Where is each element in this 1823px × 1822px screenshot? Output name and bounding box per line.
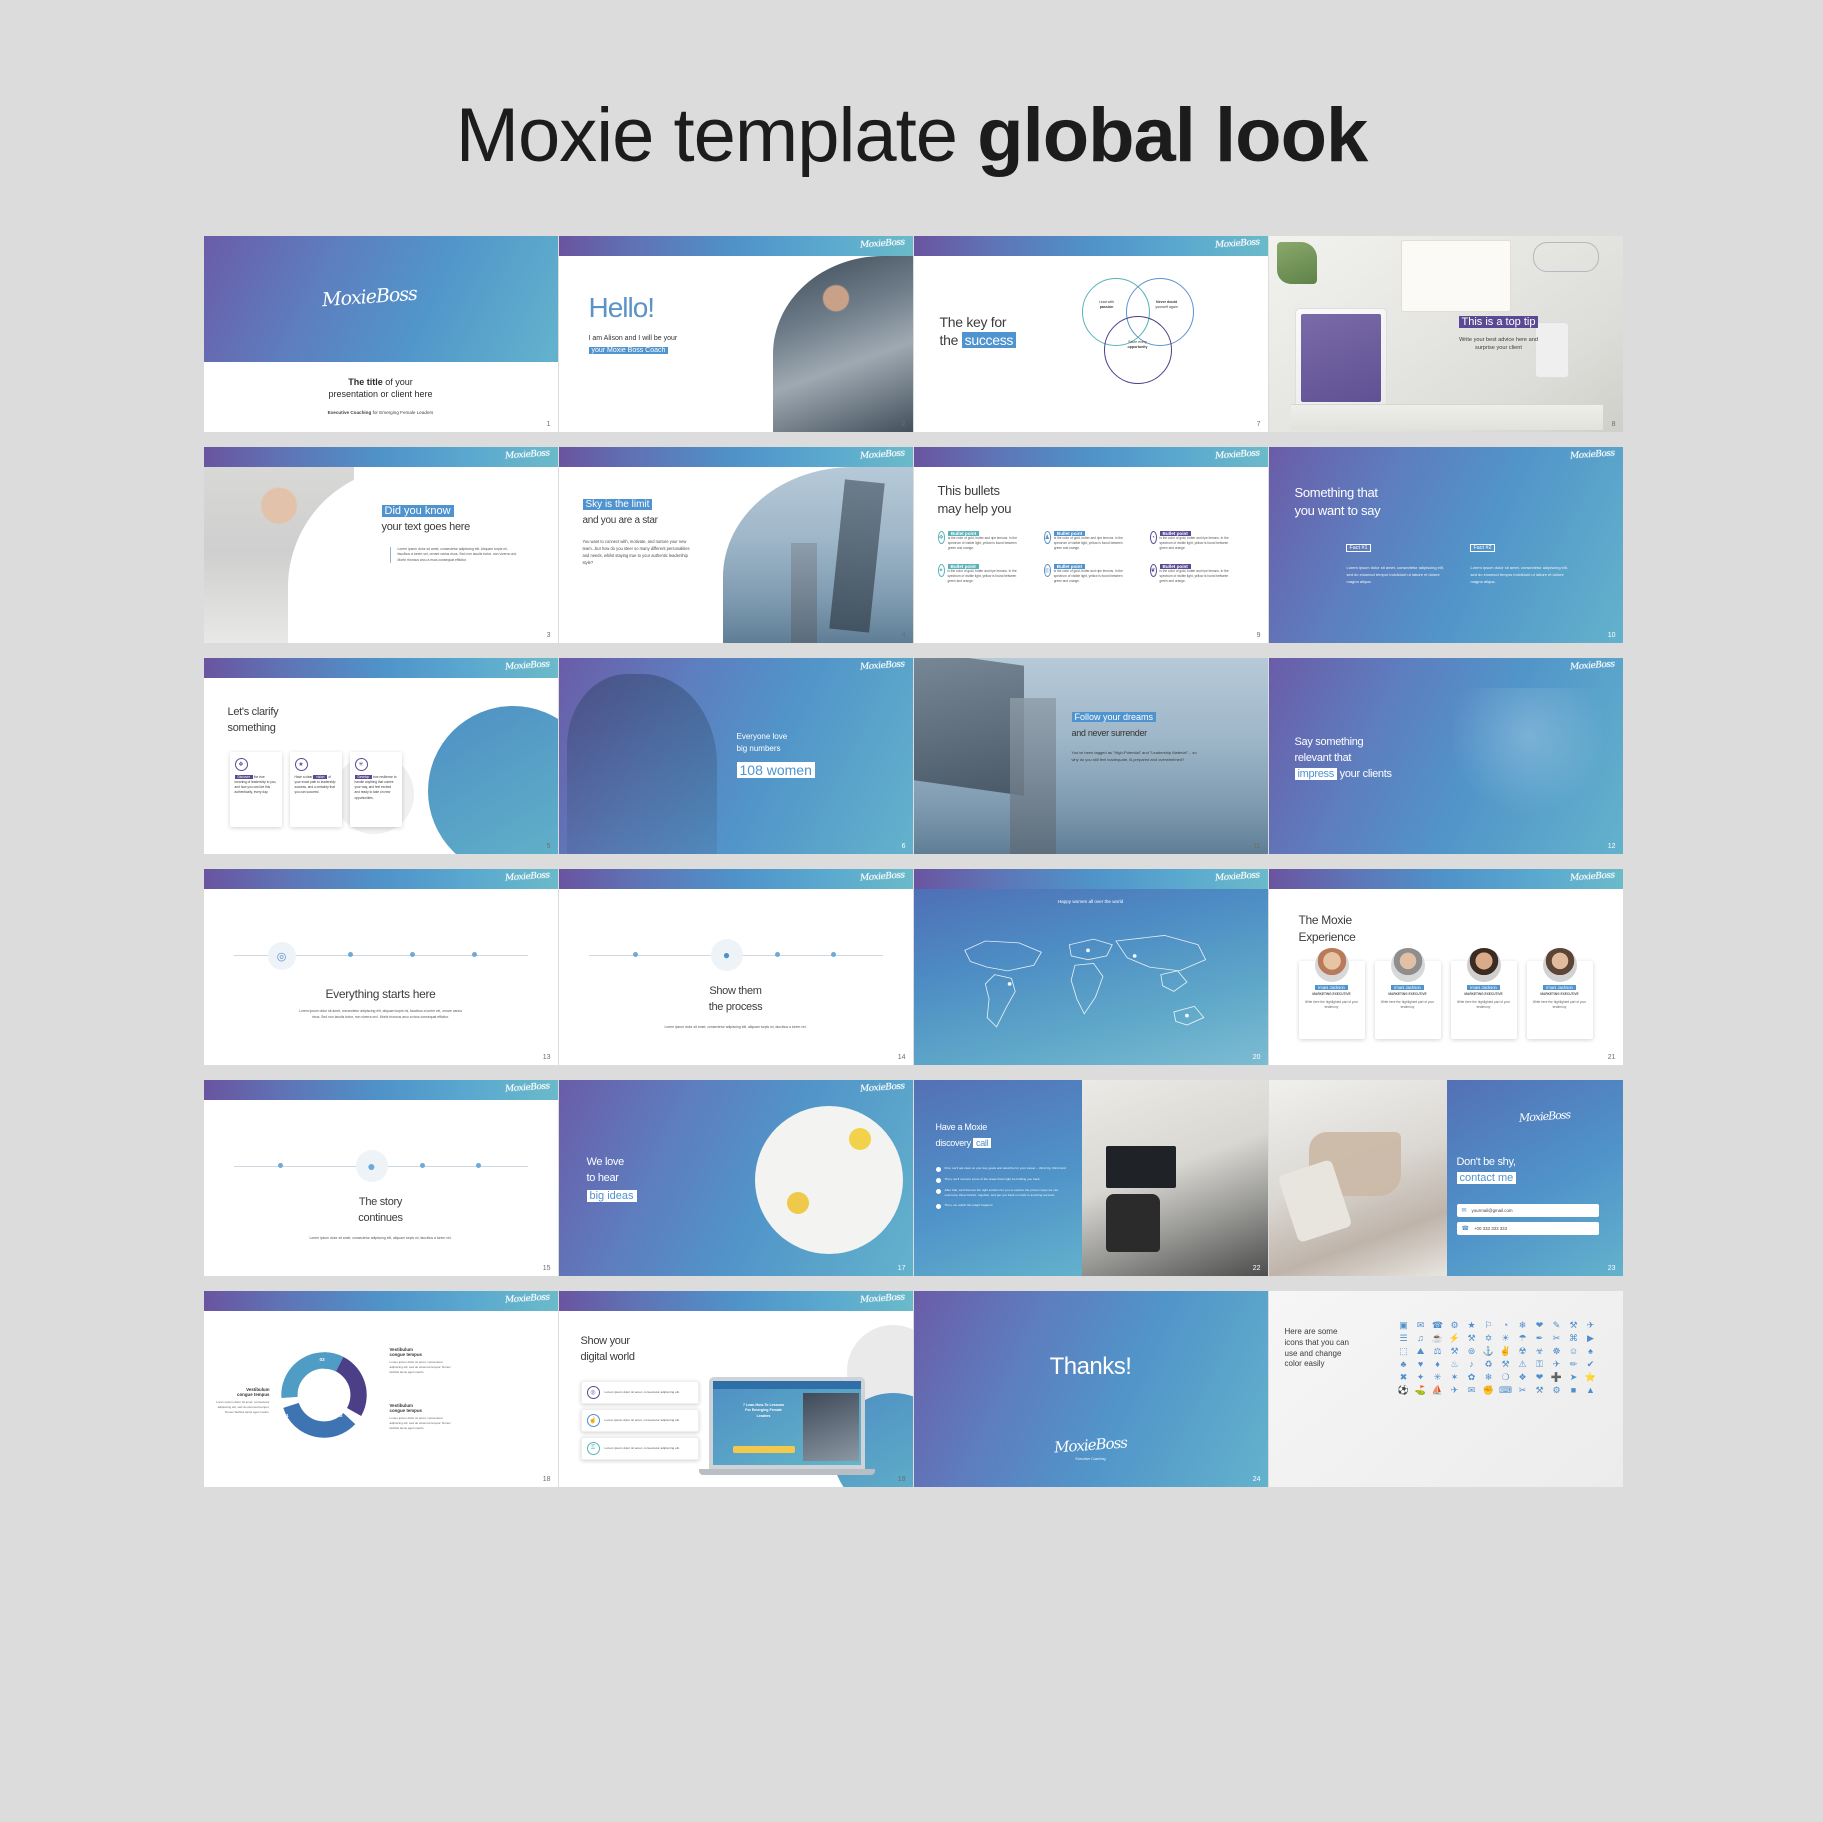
- slide-number: 20: [1253, 1054, 1261, 1061]
- blue-circle-decor: [428, 706, 558, 854]
- library-icon-58[interactable]: ➤: [1567, 1373, 1581, 1382]
- library-icon-49[interactable]: ✦: [1414, 1373, 1428, 1382]
- library-icon-8[interactable]: ❤: [1533, 1321, 1547, 1330]
- building-decor: [914, 658, 1024, 796]
- card-1-hl: vision: [313, 775, 327, 779]
- lightbulb-yellow-2: [787, 1192, 809, 1214]
- slide-6-big-number: 108 women: [737, 762, 815, 778]
- slide-5-title-l1: Let's clarify: [228, 706, 279, 719]
- slide-22-title-a: Have a Moxie: [936, 1122, 987, 1133]
- slide-14[interactable]: MoxieBoss ● Show them the process Lorem …: [559, 869, 913, 1065]
- library-icon-29[interactable]: ⚓: [1482, 1347, 1496, 1356]
- timeline-icon-3[interactable]: [472, 952, 477, 957]
- card-1-pre: Have a clear: [295, 775, 314, 779]
- library-icon-26[interactable]: ⚖: [1431, 1347, 1445, 1356]
- donut-label-02: 02: [338, 1413, 343, 1418]
- lightbulb-icon: ◔: [1150, 531, 1157, 544]
- slide-1-title-bold: The title: [348, 377, 383, 387]
- laptop-mockup: 7 Lean-How-To Lessons For Emerging Femal…: [709, 1377, 865, 1469]
- window-silhouette: [1453, 688, 1603, 844]
- library-icon-71[interactable]: ▲: [1584, 1386, 1598, 1395]
- world-map: [928, 913, 1248, 1053]
- library-icon-19[interactable]: ☂: [1516, 1334, 1530, 1343]
- building-decor: [791, 543, 817, 643]
- fact-1-label: Fact #1: [1347, 545, 1371, 551]
- testimonial-role: MARKETING EXECUTIVE: [1380, 992, 1436, 996]
- library-icon-64[interactable]: ✉: [1465, 1386, 1479, 1395]
- slide-4[interactable]: MoxieBoss Sky is the limit and you are a…: [559, 447, 913, 643]
- testimonial-card[interactable]: Imani Jackson MARKETING EXECUTIVE Write …: [1299, 961, 1365, 1039]
- slide-17[interactable]: MoxieBoss We love to hear big ideas 17: [559, 1080, 913, 1276]
- slide-12-l1: Say something: [1295, 736, 1364, 749]
- feature-text: Lorem ipsum dolor sit amet, consectetur …: [605, 1418, 680, 1423]
- slide-2[interactable]: MoxieBoss Hello! I am Alison and I will …: [559, 236, 913, 432]
- slide-4-title-a: Sky is the limit: [583, 499, 653, 510]
- bullet-text: is the color of gold, butter and ripe le…: [1160, 569, 1236, 583]
- library-icon-34[interactable]: ☺: [1567, 1347, 1581, 1356]
- legend-left-text: Lorem ipsum dolor sit amet, consectetur …: [212, 1400, 270, 1414]
- slide-4-body: You want to connect with, motivate, and …: [583, 539, 695, 567]
- library-icon-63[interactable]: ✈: [1448, 1386, 1462, 1395]
- notebook-decor: [1401, 240, 1511, 312]
- testimonial-name: Imani Jackson: [1315, 985, 1348, 990]
- slide-11[interactable]: Follow your dreams and never surrender Y…: [914, 658, 1268, 854]
- bullet-text: is the color of gold, butter and ripe le…: [1054, 569, 1130, 583]
- library-icon-9[interactable]: ✎: [1550, 1321, 1564, 1330]
- testimonial-role: MARKETING EXECUTIVE: [1304, 992, 1360, 996]
- timeline-icon-3[interactable]: [831, 952, 836, 957]
- slide-6[interactable]: MoxieBoss Everyone love big numbers 108 …: [559, 658, 913, 854]
- library-icon-51[interactable]: ✶: [1448, 1373, 1462, 1382]
- venn-diagram: Lead withpassion Never doubtyourself aga…: [1082, 278, 1242, 408]
- library-icon-0[interactable]: ▣: [1397, 1321, 1411, 1330]
- monitor-decor: [1106, 1146, 1176, 1188]
- slide-23[interactable]: MoxieBoss Don't be shy, contact me ✉ you…: [1269, 1080, 1623, 1276]
- slide-7-title-l2a: the: [940, 332, 962, 348]
- fact-1-text: Lorem ipsum dolor sit amet, consectetur …: [1347, 565, 1447, 585]
- testimonial-name: Imani Jackson: [1391, 985, 1424, 990]
- page-title-thin: Moxie template: [456, 93, 977, 178]
- timeline-icon-2[interactable]: [410, 952, 415, 957]
- library-icon-62[interactable]: ⛵: [1431, 1386, 1445, 1395]
- slide-7-title-l1: The key for: [940, 314, 1007, 331]
- clarify-card[interactable]: ★ Have a clear vision of your exact path…: [290, 752, 342, 827]
- slide-3[interactable]: MoxieBoss Did you know your text goes he…: [204, 447, 558, 643]
- slide-14-title-l2: the process: [559, 1001, 913, 1014]
- slide-11-title-b: and never surrender: [1072, 728, 1147, 739]
- step-text: Then, we watch the magic happen!: [945, 1203, 993, 1209]
- slide-8-line2: surprise your client: [1475, 345, 1522, 351]
- icon-library[interactable]: ▣✉☎⚙★⚐◔❄❤✎⚒✈☰♫☕⚡⚒✡☀☂✒✂⌘▶⬚⛰⚖⚒⊚⚓✌☢☣☸☺♠♣♥♦♨…: [1397, 1321, 1598, 1395]
- library-icon-40[interactable]: ♪: [1465, 1360, 1479, 1369]
- library-icon-59[interactable]: ⭐: [1584, 1373, 1598, 1382]
- library-icon-24[interactable]: ⬚: [1397, 1347, 1411, 1356]
- feature-row[interactable]: ☝ Lorem ipsum dolor sit amet, consectetu…: [581, 1409, 699, 1432]
- fact-2-label: Fact #2: [1471, 545, 1495, 551]
- slide-number: 6: [902, 843, 906, 850]
- legend-right-title2: congue tempus: [390, 1352, 454, 1357]
- slide-number: 10: [1608, 632, 1616, 639]
- library-icon-12[interactable]: ☰: [1397, 1334, 1411, 1343]
- library-icon-57[interactable]: ➕: [1550, 1373, 1564, 1382]
- phone-icon: ☎: [1462, 1225, 1469, 1232]
- testimonial-card[interactable]: Imani Jackson MARKETING EXECUTIVE Write …: [1375, 961, 1441, 1039]
- legend-right2-text: Lorem ipsum dolor sit amet, consectetur …: [390, 1416, 454, 1430]
- feature-text: Lorem ipsum dolor sit amet, consectetur …: [605, 1390, 680, 1395]
- slide-15[interactable]: MoxieBoss ● The story continues Lorem ip…: [204, 1080, 558, 1276]
- user-icon[interactable]: ●: [356, 1150, 388, 1182]
- bullets-grid: ❖ Bullet point is the color of gold, but…: [938, 531, 1250, 584]
- library-icon-2[interactable]: ☎: [1431, 1321, 1445, 1330]
- slide-number: 24: [1253, 1476, 1261, 1483]
- card-0-hl: Discover: [235, 775, 253, 779]
- legend-right2-title2: congue tempus: [390, 1408, 454, 1413]
- testimonial-name: Imani Jackson: [1543, 985, 1576, 990]
- lock-icon: ⚿: [587, 1442, 600, 1455]
- slide-13-title: Everything starts here: [204, 987, 558, 1001]
- library-icon-55[interactable]: ❖: [1516, 1373, 1530, 1382]
- bullet-item[interactable]: ❖ Bullet point is the color of gold, but…: [938, 531, 1024, 550]
- slide-1-sub-rest: for Emerging Female Leaders: [371, 410, 433, 415]
- slide-icons[interactable]: Here are some icons that you can use and…: [1269, 1291, 1623, 1487]
- slide-1-title-line2: presentation or client here: [204, 388, 558, 400]
- bullet-text: is the color of gold, butter and ripe le…: [1160, 536, 1236, 550]
- library-icon-68[interactable]: ⚒: [1533, 1386, 1547, 1395]
- slide-7-title-l2b: success: [962, 332, 1016, 348]
- slide-21-title-l2: Experience: [1299, 930, 1356, 944]
- slide-2-title: Hello!: [589, 292, 655, 324]
- slide-number: 19: [898, 1476, 906, 1483]
- step-text: After that, we'll discuss the right solu…: [945, 1188, 1068, 1198]
- library-icon-53[interactable]: ❄: [1482, 1373, 1496, 1382]
- sparkle-icon: ✳: [355, 758, 368, 771]
- leaf-icon: ❦: [1150, 564, 1157, 577]
- library-icon-50[interactable]: ✳: [1431, 1373, 1445, 1382]
- step-bullet: [936, 1178, 941, 1183]
- slide-number: 11: [1253, 843, 1260, 850]
- venn-0-l1: Lead with: [1099, 300, 1114, 304]
- bullet-item[interactable]: ◎ Bullet point is the color of gold, but…: [1044, 564, 1130, 583]
- slide-15-title-l1: The story: [204, 1196, 558, 1209]
- sky-photo: [723, 467, 913, 643]
- library-icon-47[interactable]: ✔: [1584, 1360, 1598, 1369]
- slide-20[interactable]: MoxieBoss Happy women all over the world…: [914, 869, 1268, 1065]
- slide-10[interactable]: MoxieBoss Something that you want to say…: [1269, 447, 1623, 643]
- library-icon-54[interactable]: ❍: [1499, 1373, 1513, 1382]
- venn-0-l2: passion: [1100, 305, 1114, 309]
- library-icon-61[interactable]: ⛳: [1414, 1386, 1428, 1395]
- library-icon-33[interactable]: ☸: [1550, 1347, 1564, 1356]
- testimonial-role: MARKETING EXECUTIVE: [1532, 992, 1588, 996]
- timeline-dot[interactable]: [420, 1163, 425, 1168]
- slide-8-line1: Write your best advice here and: [1459, 337, 1538, 343]
- slide-15-body: Lorem ipsum dolor sit amet, consectetur …: [308, 1236, 454, 1242]
- slide-1[interactable]: MoxieBoss The title of your presentation…: [204, 236, 558, 432]
- step-text: Then, we'll uncover some of the areas th…: [945, 1177, 1041, 1183]
- star-icon: ★: [295, 758, 308, 771]
- library-icon-28[interactable]: ⊚: [1465, 1347, 1479, 1356]
- timeline-icon-1[interactable]: ●: [711, 939, 743, 971]
- library-icon-17[interactable]: ✡: [1482, 1334, 1496, 1343]
- feature-row[interactable]: ◎ Lorem ipsum dolor sit amet, consectetu…: [581, 1381, 699, 1404]
- library-icon-15[interactable]: ⚡: [1448, 1334, 1462, 1343]
- slide-1-title-rest: of your: [383, 377, 413, 387]
- pin-icon: ✦: [938, 564, 945, 577]
- bullet-text: is the color of gold, butter and ripe le…: [1054, 536, 1130, 550]
- slide-number: 1: [547, 421, 551, 428]
- legend-right-text: Lorem ipsum dolor sit amet, consectetur …: [390, 1360, 454, 1374]
- icons-caption-l4: color easily: [1285, 1359, 1325, 1368]
- keyboard-decor: [1291, 404, 1603, 430]
- email-value: yourmail@gmail.com: [1472, 1208, 1513, 1213]
- slide-14-title-l1: Show them: [559, 985, 913, 998]
- building-decor: [1010, 698, 1056, 854]
- slide-13[interactable]: MoxieBoss ◎ Everything starts here Lorem…: [204, 869, 558, 1065]
- slide-number: 7: [1257, 421, 1261, 428]
- slide-1-title-block: The title of your presentation or client…: [204, 376, 558, 416]
- slide-8[interactable]: This is a top tip Write your best advice…: [1269, 236, 1623, 432]
- venn-2-l1: Seize every: [1128, 340, 1147, 344]
- bullet-item[interactable]: ♟ Bullet point is the color of gold, but…: [1044, 531, 1130, 550]
- timeline-icon-0[interactable]: [633, 952, 638, 957]
- brand-tagline: Executive Coaching: [914, 1457, 1268, 1461]
- bullet-item[interactable]: ◔ Bullet point is the color of gold, but…: [1150, 531, 1236, 550]
- timeline-dot[interactable]: [278, 1163, 283, 1168]
- library-icon-42[interactable]: ⚒: [1499, 1360, 1513, 1369]
- slide-number: 12: [1608, 843, 1616, 850]
- venn-1-l2: yourself again: [1155, 305, 1177, 309]
- library-icon-39[interactable]: ♨: [1448, 1360, 1462, 1369]
- slide-11-body: You've been tagged as "High-Potential" a…: [1072, 750, 1202, 764]
- slide-number: 2: [902, 421, 906, 428]
- step-text: First, we'll get clear on your key goals…: [945, 1166, 1067, 1172]
- library-icon-43[interactable]: ⚠: [1516, 1360, 1530, 1369]
- library-icon-48[interactable]: ✖: [1397, 1373, 1411, 1382]
- library-icon-4[interactable]: ★: [1465, 1321, 1479, 1330]
- testimonials-row: Imani Jackson MARKETING EXECUTIVE Write …: [1299, 961, 1593, 1039]
- icons-caption-l3: use and change: [1285, 1349, 1342, 1358]
- bullet-item[interactable]: ❦ Bullet point is the color of gold, but…: [1150, 564, 1236, 583]
- library-icon-23[interactable]: ▶: [1584, 1334, 1598, 1343]
- slide-21[interactable]: MoxieBoss The Moxie Experience Imani Jac…: [1269, 869, 1623, 1065]
- slide-13-body: Lorem ipsum dolor sit amet, consectetur …: [298, 1009, 464, 1021]
- donut-left-legend: Vestibulum congue tempus Lorem ipsum dol…: [212, 1387, 270, 1414]
- slide-9-title-l2: may help you: [938, 501, 1012, 516]
- slide-15-title-l2: continues: [204, 1212, 558, 1225]
- tablet-screen: [1301, 314, 1381, 402]
- library-icon-10[interactable]: ⚒: [1567, 1321, 1581, 1330]
- slide-12-l3a: impress: [1295, 768, 1337, 780]
- phone-row[interactable]: ☎ +00 333 333 333: [1457, 1222, 1599, 1235]
- mail-icon: ✉: [1462, 1207, 1467, 1214]
- library-icon-1[interactable]: ✉: [1414, 1321, 1428, 1330]
- library-icon-11[interactable]: ✈: [1584, 1321, 1598, 1330]
- brand-logo: MoxieBoss: [1053, 1433, 1127, 1456]
- library-icon-46[interactable]: ✏: [1567, 1360, 1581, 1369]
- library-icon-41[interactable]: ♻: [1482, 1360, 1496, 1369]
- slide-6-line1: Everyone love: [737, 732, 788, 741]
- library-icon-44[interactable]: ⚿: [1533, 1360, 1547, 1369]
- step-bullet: [936, 1167, 941, 1172]
- slide-10-title-l2: you want to say: [1295, 503, 1381, 518]
- library-icon-60[interactable]: ⚽: [1397, 1386, 1411, 1395]
- slide-12-l2: relevant that: [1295, 752, 1352, 765]
- slide-number: 8: [1612, 421, 1616, 428]
- slide-18[interactable]: MoxieBoss 01 02 03 Vestibulum congue tem…: [204, 1291, 558, 1487]
- testimonial-card[interactable]: Imani Jackson MARKETING EXECUTIVE Write …: [1451, 961, 1517, 1039]
- slide-number: 14: [898, 1054, 906, 1061]
- laptop-base: [699, 1469, 875, 1475]
- slide-11-title-a: Follow your dreams: [1072, 712, 1157, 722]
- venn-1-l1: Never doubt: [1156, 300, 1177, 304]
- library-icon-5[interactable]: ⚐: [1482, 1321, 1496, 1330]
- library-icon-14[interactable]: ☕: [1431, 1334, 1445, 1343]
- slide-1-sub-bold: Executive Coaching: [328, 410, 372, 415]
- library-icon-37[interactable]: ♥: [1414, 1360, 1428, 1369]
- library-icon-25[interactable]: ⛰: [1414, 1347, 1428, 1356]
- steps-list: First, we'll get clear on your key goals…: [936, 1166, 1068, 1209]
- library-icon-56[interactable]: ❤: [1533, 1373, 1547, 1382]
- slide-5-title-l2: something: [228, 722, 276, 735]
- slide-10-gradient: [1269, 447, 1623, 643]
- library-icon-38[interactable]: ♦: [1431, 1360, 1445, 1369]
- slide-19-title-l1: Show your: [581, 1335, 630, 1348]
- slide-22[interactable]: Have a Moxie discovery call First, we'll…: [914, 1080, 1268, 1276]
- avatar: [1390, 947, 1426, 983]
- target-icon: ◎: [1044, 564, 1051, 577]
- avatar: [1542, 947, 1578, 983]
- testimonial-text: Write here the highlighted part of your …: [1380, 1000, 1436, 1010]
- screen-l2: For Emerging Female: [745, 1408, 782, 1412]
- slide-20-caption: Happy women all over the world: [914, 899, 1268, 904]
- slide-number: 15: [543, 1265, 551, 1272]
- library-icon-18[interactable]: ☀: [1499, 1334, 1513, 1343]
- library-icon-16[interactable]: ⚒: [1465, 1334, 1479, 1343]
- legend-left-title2: congue tempus: [212, 1392, 270, 1397]
- icons-caption: Here are some icons that you can use and…: [1285, 1327, 1381, 1370]
- library-icon-30[interactable]: ✌: [1499, 1347, 1513, 1356]
- library-icon-22[interactable]: ⌘: [1567, 1334, 1581, 1343]
- slide-number: 4: [902, 632, 906, 639]
- slide-14-body: Lorem ipsum dolor sit amet, consectetur …: [659, 1025, 813, 1031]
- phone-value: +00 333 333 333: [1474, 1226, 1507, 1231]
- library-icon-67[interactable]: ✂: [1516, 1386, 1530, 1395]
- step-bullet: [936, 1204, 941, 1209]
- slide-2-line1: I am Alison and I will be your: [589, 335, 678, 342]
- donut-label-03: 03: [320, 1357, 325, 1362]
- lightbulb-yellow-1: [849, 1128, 871, 1150]
- slide-24[interactable]: Thanks! MoxieBoss Executive Coaching 24: [914, 1291, 1268, 1487]
- feature-row[interactable]: ⚿ Lorem ipsum dolor sit amet, consectetu…: [581, 1437, 699, 1460]
- timeline-dot[interactable]: [476, 1163, 481, 1168]
- slide-19-title-l2: digital world: [581, 1351, 635, 1364]
- library-icon-52[interactable]: ✿: [1465, 1373, 1479, 1382]
- slide-6-line2: big numbers: [737, 744, 781, 753]
- testimonial-card[interactable]: Imani Jackson MARKETING EXECUTIVE Write …: [1527, 961, 1593, 1039]
- slide-17-l2: to hear: [587, 1172, 619, 1185]
- slide-8-title: This is a top tip: [1459, 316, 1539, 328]
- library-icon-7[interactable]: ❄: [1516, 1321, 1530, 1330]
- slide-number: 17: [898, 1265, 906, 1272]
- library-icon-6[interactable]: ◔: [1499, 1321, 1513, 1330]
- slide-12[interactable]: MoxieBoss Say something relevant that im…: [1269, 658, 1623, 854]
- slide-number: 18: [543, 1476, 551, 1483]
- timeline-icon-2[interactable]: [775, 952, 780, 957]
- library-icon-21[interactable]: ✂: [1550, 1334, 1564, 1343]
- testimonial-role: MARKETING EXECUTIVE: [1456, 992, 1512, 996]
- icons-caption-l1: Here are some: [1285, 1327, 1338, 1336]
- slide-7[interactable]: MoxieBoss The key for the success Lead w…: [914, 236, 1268, 432]
- slide-number: 21: [1608, 1054, 1616, 1061]
- screen-l3: Leaders: [757, 1414, 771, 1418]
- slide-19[interactable]: MoxieBoss Show your digital world ◎ Lore…: [559, 1291, 913, 1487]
- timeline-icon-0[interactable]: ◎: [268, 942, 296, 970]
- library-icon-69[interactable]: ⚙: [1550, 1386, 1564, 1395]
- cards-row: ❖ Discover the true meaning of leadershi…: [230, 752, 402, 827]
- slide-number: 3: [547, 632, 551, 639]
- donut-right-legend-2: Vestibulum congue tempus Lorem ipsum dol…: [390, 1403, 454, 1430]
- library-icon-35[interactable]: ♠: [1584, 1347, 1598, 1356]
- portrait-photo: [773, 256, 913, 432]
- library-icon-70[interactable]: ■: [1567, 1386, 1581, 1395]
- donut-right-legend-1: Vestibulum congue tempus Lorem ipsum dol…: [390, 1347, 454, 1374]
- slide-3-body: Lorem ipsum dolor sit amet, consectetur …: [390, 547, 518, 563]
- library-icon-32[interactable]: ☣: [1533, 1347, 1547, 1356]
- slide-24-title: Thanks!: [914, 1353, 1268, 1381]
- step-bullet: [936, 1189, 941, 1194]
- library-icon-36[interactable]: ♣: [1397, 1360, 1411, 1369]
- slide-21-title-l1: The Moxie: [1299, 913, 1352, 927]
- slide-number: 5: [547, 843, 551, 850]
- screen-l1: 7 Lean-How-To Lessons: [743, 1403, 784, 1407]
- slide-17-l3: big ideas: [587, 1190, 637, 1202]
- library-icon-65[interactable]: ✊: [1482, 1386, 1496, 1395]
- icons-caption-l2: icons that you can: [1285, 1338, 1349, 1347]
- target-icon: ◎: [587, 1386, 600, 1399]
- bullet-item[interactable]: ✦ Bullet point is the color of gold, but…: [938, 564, 1024, 583]
- avatar: [1466, 947, 1502, 983]
- slide-4-title-b: and you are a star: [583, 515, 658, 527]
- slide-9[interactable]: MoxieBoss This bullets may help you ❖ Bu…: [914, 447, 1268, 643]
- woman-silhouette: [567, 674, 717, 854]
- library-icon-27[interactable]: ⚒: [1448, 1347, 1462, 1356]
- library-icon-20[interactable]: ✒: [1533, 1334, 1547, 1343]
- library-icon-3[interactable]: ⚙: [1448, 1321, 1462, 1330]
- slides-grid: MoxieBoss The title of your presentation…: [204, 236, 1620, 1487]
- plant-decor: [1277, 242, 1317, 284]
- bullet-text: is the color of gold, butter and ripe le…: [948, 569, 1024, 583]
- page-title-bold: global look: [977, 93, 1367, 178]
- clarify-card[interactable]: ❖ Discover the true meaning of leadershi…: [230, 752, 282, 827]
- email-row[interactable]: ✉ yourmail@gmail.com: [1457, 1204, 1599, 1217]
- venn-2-l2: opportunity: [1128, 345, 1148, 349]
- timeline-icon-1[interactable]: [348, 952, 353, 957]
- feature-text: Lorem ipsum dolor sit amet, consectetur …: [605, 1446, 680, 1451]
- slide-number: 22: [1253, 1265, 1261, 1272]
- testimonial-text: Write here the highlighted part of your …: [1304, 1000, 1360, 1010]
- library-icon-66[interactable]: ⌨: [1499, 1386, 1513, 1395]
- donut-chart: 01 02 03: [276, 1347, 372, 1443]
- fact-2-text: Lorem ipsum dolor sit amet, consectetur …: [1471, 565, 1571, 585]
- thumbsup-icon: ☝: [587, 1414, 600, 1427]
- library-icon-13[interactable]: ♫: [1414, 1334, 1428, 1343]
- page-title: Moxie template global look: [0, 0, 1823, 179]
- library-icon-31[interactable]: ☢: [1516, 1347, 1530, 1356]
- library-icon-45[interactable]: ✈: [1550, 1360, 1564, 1369]
- clarify-card[interactable]: ✳ Develop true resilience to handle anyt…: [350, 752, 402, 827]
- slide-5[interactable]: MoxieBoss Let's clarify something ❖ Disc…: [204, 658, 558, 854]
- chair-decor: [1106, 1194, 1160, 1252]
